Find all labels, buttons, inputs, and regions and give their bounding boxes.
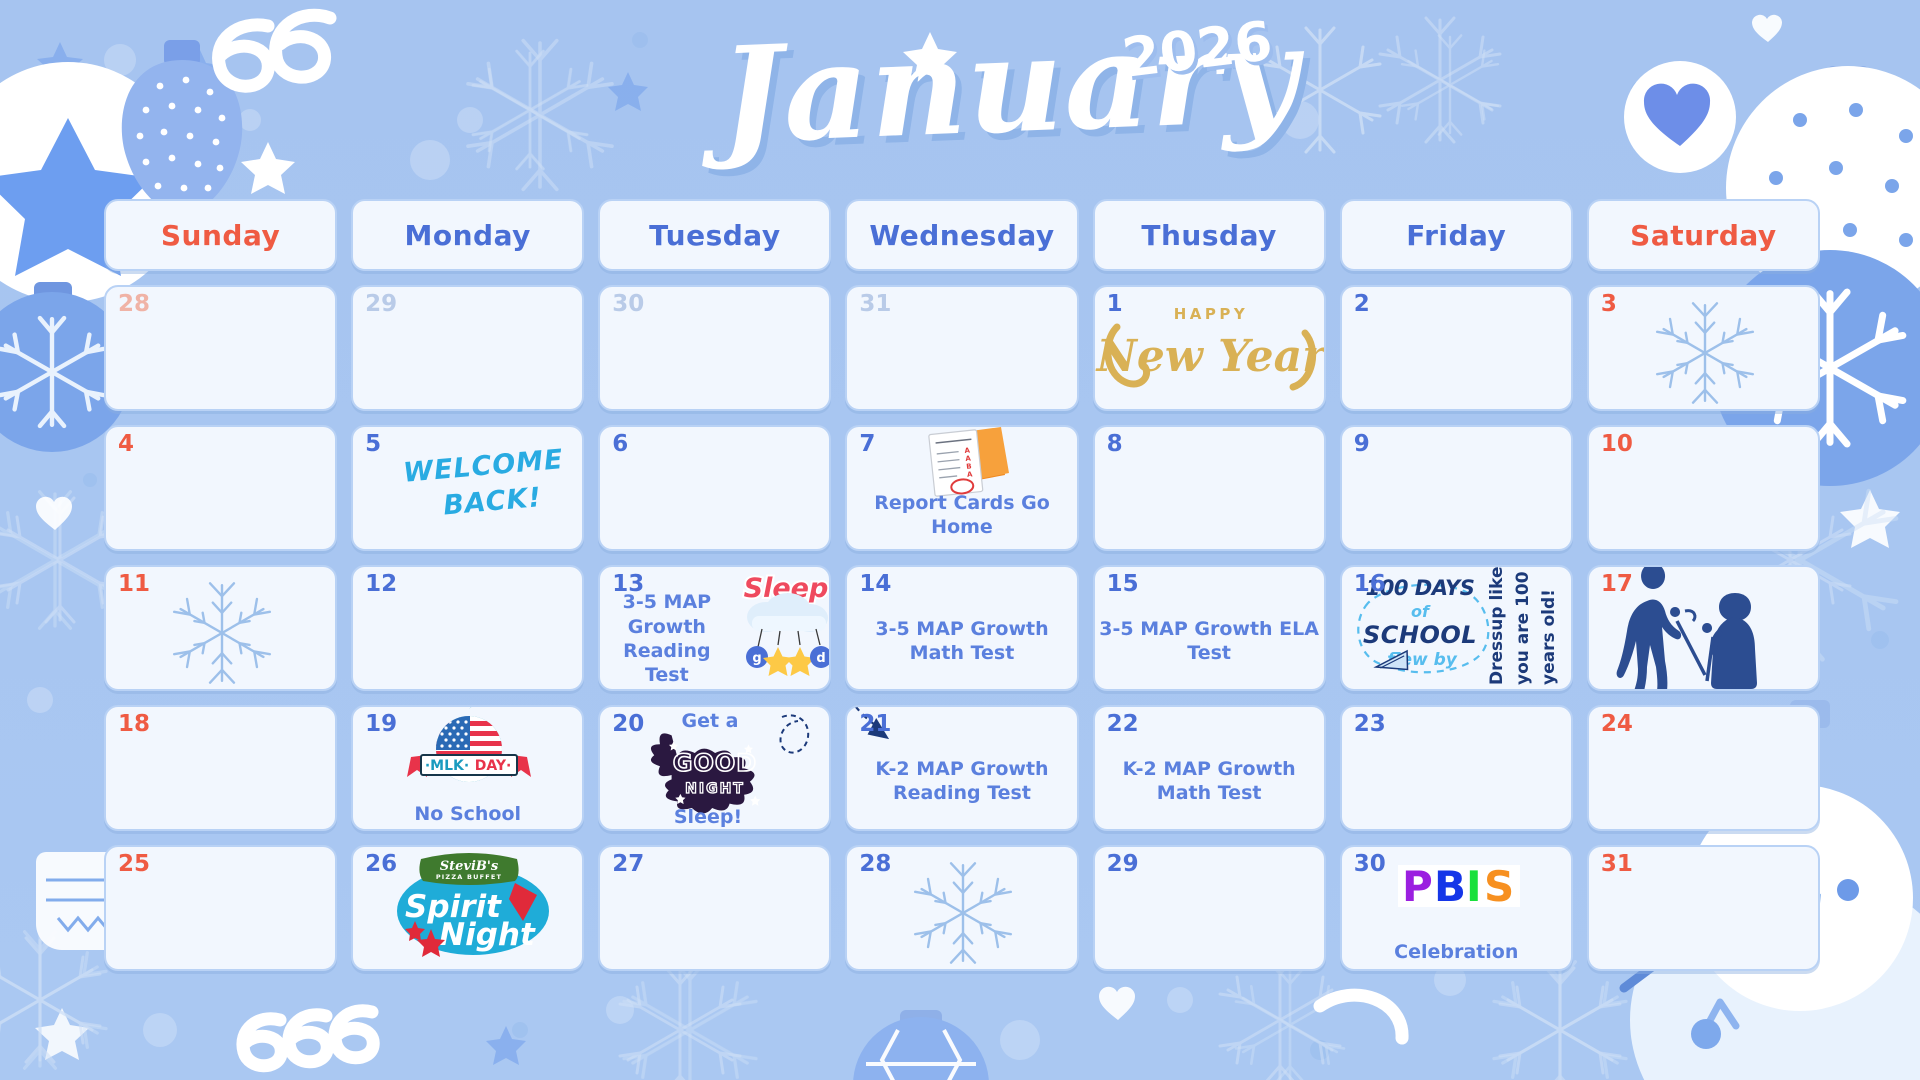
calendar-weeks: 28293031 HAPPY New Year 12 34 WELCOME BA… bbox=[104, 285, 1820, 971]
day-number: 28 bbox=[859, 853, 891, 876]
svg-text:B: B bbox=[1434, 862, 1466, 911]
day-number: 21 bbox=[859, 713, 891, 736]
svg-text:Sleep: Sleep bbox=[744, 573, 829, 604]
day-number: 30 bbox=[612, 293, 644, 316]
day-number: 7 bbox=[859, 433, 875, 456]
svg-text:you are 100: you are 100 bbox=[1513, 571, 1533, 685]
day-number: 31 bbox=[1601, 853, 1633, 876]
svg-text:SteviB's: SteviB's bbox=[440, 859, 499, 874]
day-number: 14 bbox=[859, 573, 891, 596]
day-cell-6[interactable]: 6 bbox=[598, 425, 831, 551]
day-cell-20[interactable]: Get a GOOD NIGHT Sleep! 20 bbox=[598, 705, 831, 831]
event-label: 3-5 MAP Growth ELA Test bbox=[1099, 597, 1320, 685]
day-cell-27[interactable]: 27 bbox=[598, 845, 831, 971]
day-cell-15[interactable]: 153-5 MAP Growth ELA Test bbox=[1093, 565, 1326, 691]
day-number: 17 bbox=[1601, 573, 1633, 596]
day-number: 5 bbox=[365, 433, 381, 456]
day-number: 11 bbox=[118, 573, 150, 596]
day-cell-21[interactable]: 21K-2 MAP Growth Reading Test bbox=[845, 705, 1078, 831]
weekday-header-friday: Friday bbox=[1340, 199, 1573, 271]
day-cell-3[interactable]: 3 bbox=[1587, 285, 1820, 411]
day-number: 12 bbox=[365, 573, 397, 596]
svg-text:New Year: New Year bbox=[1095, 331, 1326, 382]
day-number: 16 bbox=[1354, 573, 1386, 596]
day-number: 27 bbox=[612, 853, 644, 876]
day-number: 24 bbox=[1601, 713, 1633, 736]
calendar-week-row: 18 bbox=[104, 705, 1820, 831]
weekday-label: Saturday bbox=[1630, 219, 1777, 252]
snowflake-outline-icon bbox=[1589, 287, 1820, 409]
day-number: 1 bbox=[1107, 293, 1123, 316]
event-label: No School bbox=[357, 801, 578, 827]
day-cell-30[interactable]: 30 bbox=[598, 285, 831, 411]
svg-text:years old!: years old! bbox=[1539, 589, 1559, 685]
svg-text:Night: Night bbox=[439, 917, 536, 953]
day-number: 22 bbox=[1107, 713, 1139, 736]
day-number: 2 bbox=[1354, 293, 1370, 316]
svg-text:Get a: Get a bbox=[682, 710, 739, 732]
day-number: 29 bbox=[1107, 853, 1139, 876]
day-number: 20 bbox=[612, 713, 644, 736]
weekday-header-row: SundayMondayTuesdayWednesdayThusdayFrida… bbox=[104, 199, 1820, 271]
day-cell-29[interactable]: 29 bbox=[351, 285, 584, 411]
day-cell-28[interactable]: 28 bbox=[845, 845, 1078, 971]
welcome-back-sticker: WELCOME BACK! bbox=[353, 427, 584, 549]
day-number: 23 bbox=[1354, 713, 1386, 736]
day-cell-31[interactable]: 31 bbox=[845, 285, 1078, 411]
day-number: 18 bbox=[118, 713, 150, 736]
svg-text:SCHOOL: SCHOOL bbox=[1363, 621, 1477, 649]
svg-text:Dressup like: Dressup like bbox=[1487, 567, 1507, 685]
svg-text:A: A bbox=[967, 470, 974, 479]
day-cell-1[interactable]: HAPPY New Year 1 bbox=[1093, 285, 1326, 411]
calendar-week-row: 25 SteviB's PIZZA BUFFET Spirit Night 26… bbox=[104, 845, 1820, 971]
happy-new-year-sticker: HAPPY New Year bbox=[1095, 287, 1326, 409]
day-number: 8 bbox=[1107, 433, 1123, 456]
day-cell-28[interactable]: 28 bbox=[104, 285, 337, 411]
event-label: 3-5 MAP Growth Reading Test bbox=[600, 593, 733, 685]
weekday-header-tuesday: Tuesday bbox=[598, 199, 831, 271]
day-cell-22[interactable]: 22K-2 MAP Growth Math Test bbox=[1093, 705, 1326, 831]
day-cell-12[interactable]: 12 bbox=[351, 565, 584, 691]
day-cell-24[interactable]: 24 bbox=[1587, 705, 1820, 831]
calendar-week-row: 1112 Sleep g d bbox=[104, 565, 1820, 691]
day-cell-25[interactable]: 25 bbox=[104, 845, 337, 971]
event-label: Celebration bbox=[1346, 937, 1567, 967]
weekday-header-saturday: Saturday bbox=[1587, 199, 1820, 271]
day-cell-5[interactable]: WELCOME BACK! 5 bbox=[351, 425, 584, 551]
svg-text:flew by: flew by bbox=[1387, 650, 1458, 670]
day-cell-11[interactable]: 11 bbox=[104, 565, 337, 691]
svg-text:Spirit: Spirit bbox=[405, 889, 502, 925]
weekday-header-monday: Monday bbox=[351, 199, 584, 271]
day-cell-13[interactable]: Sleep g d 133-5 MAP Growth Reading bbox=[598, 565, 831, 691]
day-number: 25 bbox=[118, 853, 150, 876]
weekday-label: Wednesday bbox=[869, 219, 1054, 252]
svg-text:A: A bbox=[965, 446, 972, 455]
calendar-week-row: 28293031 HAPPY New Year 12 3 bbox=[104, 285, 1820, 411]
svg-text:d: d bbox=[817, 651, 826, 666]
day-number: 9 bbox=[1354, 433, 1370, 456]
weekday-header-sunday: Sunday bbox=[104, 199, 337, 271]
svg-text:NIGHT: NIGHT bbox=[685, 781, 745, 797]
weekday-label: Monday bbox=[405, 219, 531, 252]
svg-text:GOOD: GOOD bbox=[673, 749, 757, 777]
day-cell-16[interactable]: 100 DAYS of SCHOOL flew by Dressup like … bbox=[1340, 565, 1573, 691]
svg-text:B: B bbox=[966, 462, 972, 471]
day-number: 31 bbox=[859, 293, 891, 316]
day-number: 3 bbox=[1601, 293, 1617, 316]
weekday-header-wednesday: Wednesday bbox=[845, 199, 1078, 271]
weekday-label: Tuesday bbox=[649, 219, 780, 252]
day-cell-4[interactable]: 4 bbox=[104, 425, 337, 551]
day-cell-17[interactable]: 17 bbox=[1587, 565, 1820, 691]
day-cell-14[interactable]: 143-5 MAP Growth Math Test bbox=[845, 565, 1078, 691]
svg-text:PIZZA BUFFET: PIZZA BUFFET bbox=[436, 873, 502, 881]
day-number: 15 bbox=[1107, 573, 1139, 596]
svg-text:BACK!: BACK! bbox=[442, 482, 543, 521]
calendar-week-row: 4 WELCOME BACK! 56 AABA bbox=[104, 425, 1820, 551]
day-number: 28 bbox=[118, 293, 150, 316]
weekday-label: Friday bbox=[1406, 219, 1506, 252]
svg-text:of: of bbox=[1411, 602, 1431, 621]
svg-text:S: S bbox=[1484, 862, 1514, 911]
day-cell-7[interactable]: AABA 7Report Cards Go Home bbox=[845, 425, 1078, 551]
weekday-label: Sunday bbox=[161, 219, 280, 252]
day-number: 13 bbox=[612, 573, 644, 596]
event-label: 3-5 MAP Growth Math Test bbox=[851, 597, 1072, 685]
day-number: 10 bbox=[1601, 433, 1633, 456]
day-number: 26 bbox=[365, 853, 397, 876]
svg-text:·MLK·: ·MLK· bbox=[425, 758, 469, 774]
day-cell-29[interactable]: 29 bbox=[1093, 845, 1326, 971]
day-cell-19[interactable]: ·MLK· DAY· 19No School bbox=[351, 705, 584, 831]
day-number: 30 bbox=[1354, 853, 1386, 876]
weekday-header-thusday: Thusday bbox=[1093, 199, 1326, 271]
svg-text:A: A bbox=[965, 454, 972, 463]
day-number: 29 bbox=[365, 293, 397, 316]
calendar-grid: SundayMondayTuesdayWednesdayThusdayFrida… bbox=[104, 199, 1820, 985]
svg-text:WELCOME: WELCOME bbox=[402, 444, 565, 489]
heart-badge bbox=[1624, 61, 1736, 173]
event-label: K-2 MAP Growth Reading Test bbox=[851, 737, 1072, 825]
svg-text:P: P bbox=[1402, 862, 1433, 911]
day-number: 6 bbox=[612, 433, 628, 456]
day-cell-23[interactable]: 23 bbox=[1340, 705, 1573, 831]
svg-text:g: g bbox=[753, 651, 762, 666]
svg-text:HAPPY: HAPPY bbox=[1173, 305, 1248, 323]
event-label: Report Cards Go Home bbox=[851, 485, 1072, 545]
svg-text:DAY·: DAY· bbox=[475, 758, 512, 774]
event-label: K-2 MAP Growth Math Test bbox=[1099, 737, 1320, 825]
weekday-label: Thusday bbox=[1141, 219, 1276, 252]
day-cell-31[interactable]: 31 bbox=[1587, 845, 1820, 971]
svg-text:I: I bbox=[1466, 862, 1482, 911]
day-cell-2[interactable]: 2 bbox=[1340, 285, 1573, 411]
day-number: 19 bbox=[365, 713, 397, 736]
day-cell-26[interactable]: SteviB's PIZZA BUFFET Spirit Night 26 bbox=[351, 845, 584, 971]
day-number: 4 bbox=[118, 433, 134, 456]
day-cell-9[interactable]: 9 bbox=[1340, 425, 1573, 551]
day-cell-8[interactable]: 8 bbox=[1093, 425, 1326, 551]
day-cell-30[interactable]: P B I S 30Celebration bbox=[1340, 845, 1573, 971]
svg-text:Sleep!: Sleep! bbox=[674, 806, 742, 828]
day-cell-18[interactable]: 18 bbox=[104, 705, 337, 831]
day-cell-10[interactable]: 10 bbox=[1587, 425, 1820, 551]
